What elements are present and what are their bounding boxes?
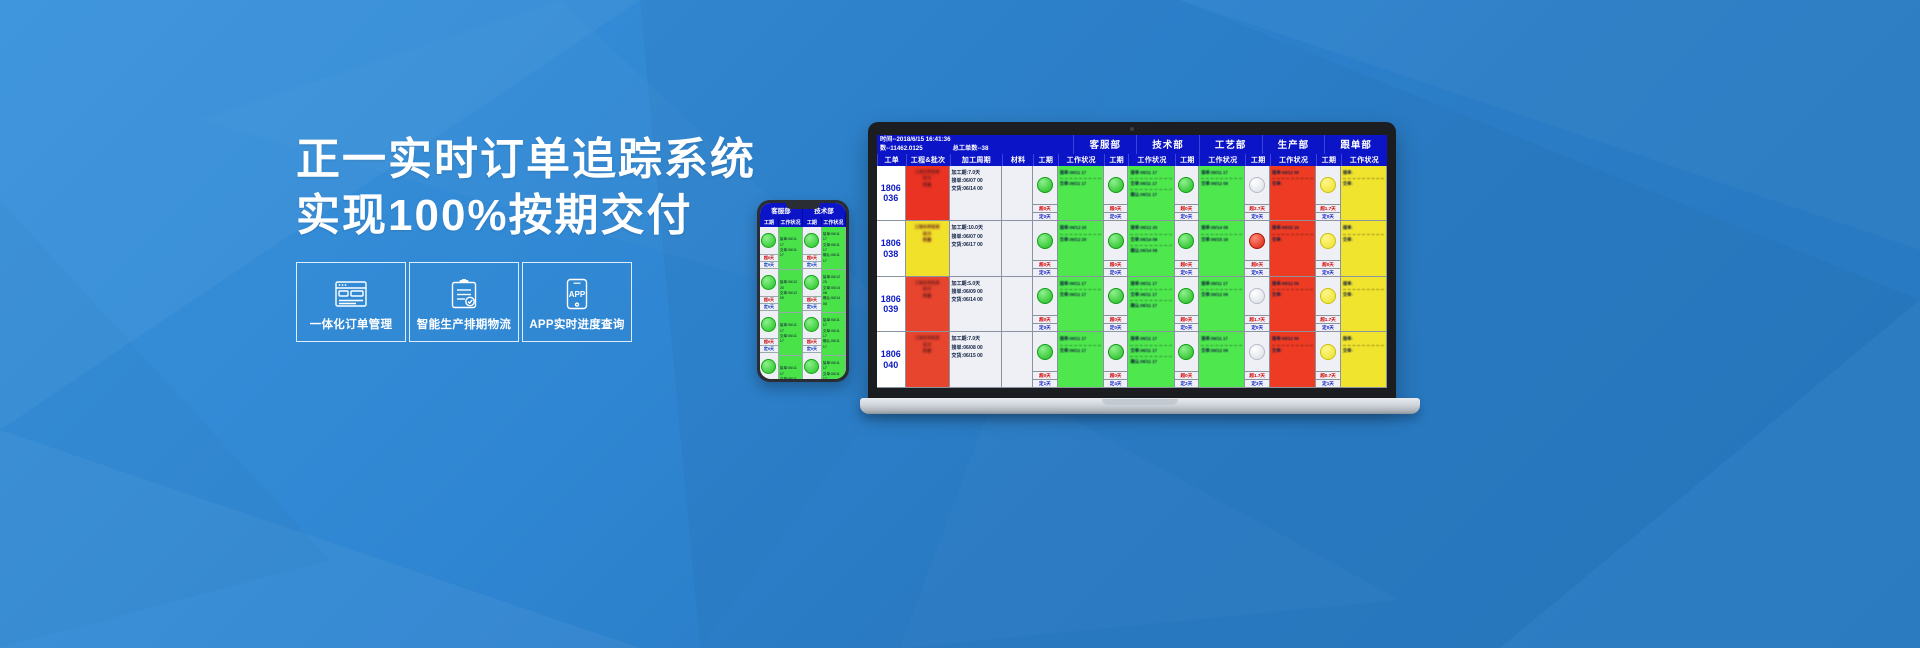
meta-time: 时间--2018/6/15 16:41:36 xyxy=(880,136,1071,145)
status-line: 交单: xyxy=(1343,236,1384,245)
status-line: 接单:06/11 17 xyxy=(1201,169,1242,179)
phone-status-line: 接单:06/11 17 xyxy=(780,323,801,334)
cell-技术部-duration[interactable]: 超0天定0天 xyxy=(1104,221,1128,277)
phone-status-text: 接单:06/11 17交单:06/11 17 xyxy=(779,364,802,379)
feature-label: 一体化订单管理 xyxy=(310,316,393,332)
status-line: 接单: xyxy=(1343,224,1384,234)
status-light-green xyxy=(804,359,819,374)
cycle-line: 交货:06/14 00 xyxy=(952,185,1000,193)
status-light-green xyxy=(804,317,819,332)
status-line: 交单:06/15 16 xyxy=(1201,236,1242,245)
work-order-prefix: 1806 xyxy=(881,238,901,248)
phone-col-status-cs: 工作状况 xyxy=(779,217,803,227)
cycle-line: 加工期:7.0天 xyxy=(952,169,1000,177)
cell-客服部-duration[interactable]: 超0天定0天 xyxy=(1033,221,1057,277)
status-line: 交单: xyxy=(1272,347,1313,356)
cell-生产部-duration[interactable]: 超0天定0天 xyxy=(1245,221,1269,277)
status-line: 交单:06/12 09 xyxy=(1201,291,1242,300)
cell-客服部-status[interactable]: 接单:06/12 20交单:06/12 20 xyxy=(1058,221,1103,277)
status-light-yellow xyxy=(1320,288,1336,304)
status-light-green xyxy=(761,275,776,290)
status-line: 交单: xyxy=(1343,291,1384,300)
cell-客服部-duration[interactable]: 超0天定0天 xyxy=(1033,166,1057,222)
status-light-green xyxy=(1178,344,1194,360)
status-light-green xyxy=(1037,233,1053,249)
cycle-line: 接单:06/09 00 xyxy=(952,288,1000,296)
laptop-device-mockup: 时间--2018/6/15 16:41:36 数--11462.0125总工单数… xyxy=(860,122,1420,422)
cell-客服部-status[interactable]: 接单:06/11 17交单:06/11 17 xyxy=(1058,166,1103,222)
cell-project-batch[interactable]: 工程名称信息批次数量 xyxy=(906,332,949,388)
phone-col-duration-cs: 工期 xyxy=(760,217,779,227)
phone-notch xyxy=(786,203,820,209)
overdue-badge: 超0天 xyxy=(1033,315,1057,323)
cell-工艺部-duration[interactable]: 超0天定0天 xyxy=(1175,277,1199,333)
status-line: 接单: xyxy=(1343,335,1384,345)
status-line: 接单:06/12 09 xyxy=(1272,280,1313,290)
column-work-order: 1806036180603818060391806040 xyxy=(877,166,906,388)
promo-banner: 正一实时订单追踪系统 实现100%按期交付 一体化订单管理 xyxy=(0,0,1920,648)
status-line: 接单:06/12 09 xyxy=(1272,169,1313,179)
status-indicator-wrap xyxy=(1104,277,1128,316)
feature-item-order-management[interactable]: 一体化订单管理 xyxy=(296,262,406,342)
status-light-green xyxy=(1037,288,1053,304)
phone-cell-cs-status[interactable]: 接单:06/12 20交单:06/12 20 xyxy=(779,270,802,313)
cycle-line: 交货:06/17 00 xyxy=(952,241,1000,249)
feature-label: 智能生产排期物流 xyxy=(417,316,511,332)
cell-processing-cycle[interactable]: 加工期:7.0天接单:06/07 00交货:06/14 00 xyxy=(950,166,1002,222)
scheduled-badge: 定4天 xyxy=(1104,379,1128,387)
cell-生产部-status[interactable]: 接单:06/12 09交单: xyxy=(1270,332,1315,388)
scheduled-badge: 定0天 xyxy=(1104,212,1128,220)
column-生产部-duration: 超2.7天定0天超0天定0天超1.7天定0天超1.7天定3天 xyxy=(1245,166,1270,388)
dashboard-column-headers: 工单工程&批次加工周期材料工期工作状况工期工作状况工期工作状况工期工作状况工期工… xyxy=(877,154,1387,166)
overdue-badge: 超0天 xyxy=(1316,260,1340,268)
feature-item-app-progress[interactable]: APP APP实时进度查询 xyxy=(522,262,632,342)
phone-cell-cs-status[interactable]: 接单:06/11 17交单:06/11 17 xyxy=(779,227,802,270)
phone-cell-tech-duration[interactable] xyxy=(803,353,821,379)
dashboard-grid[interactable]: 1806036180603818060391806040工程名称信息批次数量工程… xyxy=(877,166,1387,388)
phone-subheader: 工期 工作状况 工期 工作状况 xyxy=(760,217,846,227)
cell-工艺部-status[interactable]: 接单:06/11 17交单:06/12 09 xyxy=(1199,166,1244,222)
project-text: 数量 xyxy=(908,348,947,354)
overdue-badge: 超0天 xyxy=(1033,204,1057,212)
project-text: 数量 xyxy=(908,182,947,188)
cell-工艺部-status[interactable]: 接单:06/14 08交单:06/15 16 xyxy=(1199,221,1244,277)
work-order-prefix: 1806 xyxy=(881,349,901,359)
cell-material[interactable] xyxy=(1002,277,1032,333)
overdue-badge: 超1.7天 xyxy=(1245,315,1269,323)
cell-跟单部-duration[interactable]: 超1.7天定0天 xyxy=(1316,277,1340,333)
status-light-yellow xyxy=(1320,233,1336,249)
scheduled-badge: 定0天 xyxy=(1104,268,1128,276)
phone-status-line: 交单:06/14 08 xyxy=(823,286,844,297)
cycle-line: 加工期:5.0天 xyxy=(952,280,1000,288)
phone-col-status-tech: 工作状况 xyxy=(822,217,846,227)
phone-scheduled-badge: 定0天 xyxy=(760,346,778,353)
overdue-badge: 超0天 xyxy=(1245,260,1269,268)
scheduled-badge: 定0天 xyxy=(1033,212,1057,220)
project-text: 数量 xyxy=(908,237,947,243)
col-header-0: 工单 xyxy=(877,154,906,166)
overdue-badge: 超0天 xyxy=(1175,315,1199,323)
scheduled-badge: 定0天 xyxy=(1316,212,1340,220)
phone-cell-cs-duration[interactable] xyxy=(760,311,778,339)
status-line: 接单:06/12 09 xyxy=(1272,335,1313,345)
phone-cell-tech-duration[interactable] xyxy=(803,311,821,339)
status-line: 交单:06/11 17 xyxy=(1130,291,1171,301)
cell-跟单部-duration[interactable]: 超0天定0天 xyxy=(1316,221,1340,277)
overdue-badge: 超0.7天 xyxy=(1316,371,1340,379)
phone-column-cs-duration: 超0天定0天超0天定0天超0天定0天超0天定0天超0天定0天 xyxy=(760,227,779,379)
dashboard-window-icon xyxy=(335,277,367,311)
cell-技术部-duration[interactable]: 超0天定0天 xyxy=(1104,277,1128,333)
status-indicator-wrap xyxy=(1175,166,1199,205)
webcam-icon xyxy=(1130,127,1134,131)
status-light-green xyxy=(1108,288,1124,304)
cell-work-order[interactable]: 1806040 xyxy=(877,332,905,388)
dashboard-meta: 时间--2018/6/15 16:41:36 数--11462.0125总工单数… xyxy=(877,135,1073,154)
phone-overdue-badge: 超0天 xyxy=(760,297,778,304)
cell-material[interactable] xyxy=(1002,221,1032,277)
phone-cell-tech-status[interactable]: 接单:06/11 17交单:06/11 17确认:06/11 17 xyxy=(822,227,845,270)
col-header-工艺部-工期: 工期 xyxy=(1175,154,1200,166)
cell-技术部-duration[interactable]: 超0天定4天 xyxy=(1104,332,1128,388)
status-line: 接单:06/11 17 xyxy=(1130,169,1171,179)
status-indicator-wrap xyxy=(1104,332,1128,371)
column-客服部-duration: 超0天定0天超0天定0天超0天定0天超0天定1天 xyxy=(1033,166,1058,388)
col-header-生产部-工作状况: 工作状况 xyxy=(1270,154,1316,166)
cycle-line: 接单:06/07 00 xyxy=(952,233,1000,241)
status-line: 接单:06/11 17 xyxy=(1060,280,1101,290)
col-header-2: 加工周期 xyxy=(950,154,1003,166)
feature-item-smart-scheduling[interactable]: 智能生产排期物流 xyxy=(409,262,519,342)
phone-status-text: 接单:06/12 20交单:06/12 20 xyxy=(779,278,802,304)
status-line: 接单:06/12 20 xyxy=(1060,224,1101,234)
phone-cell-cs-duration[interactable] xyxy=(760,353,778,379)
scheduled-badge: 定2天 xyxy=(1175,379,1199,387)
status-line: 交单:06/12 09 xyxy=(1201,180,1242,189)
status-light-green xyxy=(804,233,819,248)
col-header-技术部-工期: 工期 xyxy=(1104,154,1129,166)
work-order-prefix: 1806 xyxy=(881,183,901,193)
status-indicator-wrap xyxy=(1175,221,1199,260)
phone-status-line: 确认:06/11 17 xyxy=(823,339,844,350)
cell-生产部-duration[interactable]: 超1.7天定3天 xyxy=(1245,332,1269,388)
status-line: 接单:06/11 17 xyxy=(1060,169,1101,179)
cycle-line: 交货:06/14 00 xyxy=(952,296,1000,304)
meta-count: 数--11462.0125 xyxy=(880,145,923,152)
phone-status-line: 接单:06/11 17 xyxy=(823,361,844,372)
scheduled-badge: 定0天 xyxy=(1175,268,1199,276)
cell-技术部-status[interactable]: 接单:06/12 20交单:06/14 08确认:06/14 08 xyxy=(1128,221,1173,277)
status-light-green xyxy=(804,275,819,290)
cell-技术部-status[interactable]: 接单:06/11 17交单:06/11 17确认:06/11 17 xyxy=(1128,166,1173,222)
cell-生产部-duration[interactable]: 超1.7天定0天 xyxy=(1245,277,1269,333)
status-light-green xyxy=(761,317,776,332)
scheduled-badge: 定0天 xyxy=(1316,323,1340,331)
phone-table-body[interactable]: 超0天定0天超0天定0天超0天定0天超0天定0天超0天定0天 接单:06/11 … xyxy=(760,227,846,379)
status-line: 接单: xyxy=(1343,280,1384,290)
dept-header-followup: 跟单部 xyxy=(1324,135,1387,154)
phone-status-line: 交单:06/12 20 xyxy=(780,291,801,302)
status-indicator-wrap xyxy=(1245,221,1269,260)
status-light-green xyxy=(1037,177,1053,193)
phone-status-line: 接单:06/11 17 xyxy=(823,318,844,329)
column-material xyxy=(1002,166,1033,388)
phone-status-text: 接单:06/11 17交单:06/11 17确认:06/11 17 xyxy=(822,316,845,352)
cell-跟单部-status[interactable]: 接单:交单: xyxy=(1341,166,1386,222)
scheduled-badge: 定0天 xyxy=(1104,323,1128,331)
status-indicator-wrap xyxy=(1175,277,1199,316)
overdue-badge: 超0天 xyxy=(1104,260,1128,268)
dept-header-production: 生产部 xyxy=(1262,135,1325,154)
phone-status-line: 交单:06/11 17 xyxy=(780,334,801,345)
status-line: 交单: xyxy=(1343,180,1384,189)
feature-list: 一体化订单管理 智能生产排期物流 xyxy=(296,262,632,342)
phone-column-cs-status: 接单:06/11 17交单:06/11 17接单:06/12 20交单:06/1… xyxy=(779,227,803,379)
column-跟单部-status: 接单:交单:接单:交单:接单:交单:接单:交单: xyxy=(1341,166,1387,388)
work-order-suffix: 040 xyxy=(883,360,898,370)
cycle-line: 加工期:10.0天 xyxy=(952,224,1000,232)
phone-cell-tech-status[interactable]: 接单:06/12 20交单:06/14 08确认:06/14 08 xyxy=(822,270,845,313)
status-line: 交单:06/11 17 xyxy=(1060,291,1101,300)
cycle-line: 接单:06/07 00 xyxy=(952,177,1000,185)
laptop-lid: 时间--2018/6/15 16:41:36 数--11462.0125总工单数… xyxy=(868,122,1396,404)
status-line: 交单: xyxy=(1343,347,1384,356)
col-header-客服部-工作状况: 工作状况 xyxy=(1058,154,1104,166)
status-light-white xyxy=(1249,344,1265,360)
overdue-badge: 超0天 xyxy=(1033,371,1057,379)
status-line: 交单:06/11 17 xyxy=(1060,347,1101,356)
cell-跟单部-duration[interactable]: 超0.7天定1天 xyxy=(1316,332,1340,388)
phone-cell-tech-status[interactable]: 接单:06/11 17交单:06/11 17确认:06/11 17 xyxy=(822,356,845,379)
clipboard-schedule-icon xyxy=(451,277,477,311)
status-line: 接单:06/12 20 xyxy=(1130,224,1171,234)
phone-status-line: 交单:06/11 17 xyxy=(823,372,844,379)
cell-material[interactable] xyxy=(1002,166,1032,222)
phone-scheduled-badge: 定0天 xyxy=(760,304,778,311)
cell-processing-cycle[interactable]: 加工期:5.0天接单:06/09 00交货:06/14 00 xyxy=(950,277,1002,333)
status-indicator-wrap xyxy=(1245,332,1269,371)
overdue-badge: 超0天 xyxy=(1104,315,1128,323)
cell-技术部-duration[interactable]: 超0天定0天 xyxy=(1104,166,1128,222)
cell-客服部-duration[interactable]: 超0天定0天 xyxy=(1033,277,1057,333)
col-header-1: 工程&批次 xyxy=(906,154,950,166)
phone-status-line: 接单:06/11 17 xyxy=(780,237,801,248)
cell-project-batch[interactable]: 工程名称信息批次数量 xyxy=(906,221,949,277)
status-line: 交单:06/11 17 xyxy=(1130,347,1171,357)
cell-工艺部-duration[interactable]: 超0天定2天 xyxy=(1175,332,1199,388)
phone-column-tech-status: 接单:06/11 17交单:06/11 17确认:06/11 17接单:06/1… xyxy=(822,227,846,379)
overdue-badge: 超0天 xyxy=(1175,371,1199,379)
phone-scheduled-badge: 定0天 xyxy=(760,262,778,269)
phone-status-line: 接单:06/12 20 xyxy=(780,280,801,291)
dashboard-header: 时间--2018/6/15 16:41:36 数--11462.0125总工单数… xyxy=(877,135,1387,154)
status-indicator-wrap xyxy=(1245,166,1269,205)
scheduled-badge: 定0天 xyxy=(1033,323,1057,331)
cell-客服部-duration[interactable]: 超0天定1天 xyxy=(1033,332,1057,388)
mobile-app-icon: APP xyxy=(566,277,588,311)
cell-processing-cycle[interactable]: 加工期:10.0天接单:06/07 00交货:06/17 00 xyxy=(950,221,1002,277)
work-order-suffix: 039 xyxy=(883,304,898,314)
column-生产部-status: 接单:06/12 09交单:接单:06/15 16交单:接单:06/12 09交… xyxy=(1270,166,1316,388)
feature-label: APP实时进度查询 xyxy=(529,316,624,332)
scheduled-badge: 定1天 xyxy=(1316,379,1340,387)
status-line: 接单:06/11 17 xyxy=(1201,335,1242,345)
status-line: 接单:06/15 16 xyxy=(1272,224,1313,234)
cell-project-batch[interactable]: 工程名称信息批次数量 xyxy=(906,277,949,333)
work-order-prefix: 1806 xyxy=(881,294,901,304)
cell-project-batch[interactable]: 工程名称信息批次数量 xyxy=(906,166,949,222)
cell-work-order[interactable]: 1806039 xyxy=(877,277,905,333)
cell-processing-cycle[interactable]: 加工期:7.0天接单:06/08 00交货:06/15 00 xyxy=(950,332,1002,388)
headline-line-1: 正一实时订单追踪系统 xyxy=(296,135,756,184)
cell-跟单部-duration[interactable]: 超1.7天定0天 xyxy=(1316,166,1340,222)
meta-total: 总工单数--38 xyxy=(953,145,989,152)
status-indicator-wrap xyxy=(1316,166,1340,205)
cell-工艺部-status[interactable]: 接单:06/11 17交单:06/12 09 xyxy=(1199,277,1244,333)
dept-header-customer-service: 客服部 xyxy=(1073,135,1136,154)
phone-status-text: 接单:06/11 17交单:06/11 17确认:06/11 17 xyxy=(822,359,845,379)
phone-status-line: 确认:06/14 08 xyxy=(823,296,844,307)
status-light-white xyxy=(1249,288,1265,304)
overdue-badge: 超1.7天 xyxy=(1316,204,1340,212)
svg-text:APP: APP xyxy=(569,290,586,299)
cell-生产部-status[interactable]: 接单:06/12 09交单: xyxy=(1270,277,1315,333)
phone-col-duration-tech: 工期 xyxy=(803,217,822,227)
phone-status-line: 交单:06/11 17 xyxy=(780,377,801,379)
phone-status-text: 接单:06/11 17交单:06/11 17 xyxy=(779,321,802,347)
project-text: 数量 xyxy=(908,293,947,299)
cycle-line: 交货:06/15 00 xyxy=(952,352,1000,360)
meta-count-row: 数--11462.0125总工单数--38 xyxy=(880,145,1071,154)
col-header-3: 材料 xyxy=(1002,154,1033,166)
phone-scheduled-badge: 定0天 xyxy=(803,346,821,353)
cell-工艺部-duration[interactable]: 超0天定0天 xyxy=(1175,221,1199,277)
phone-cell-tech-duration[interactable] xyxy=(803,227,821,255)
work-order-suffix: 038 xyxy=(883,249,898,259)
cell-客服部-status[interactable]: 接单:06/11 17交单:06/11 17 xyxy=(1058,332,1103,388)
status-line: 交单:06/11 17 xyxy=(1060,180,1101,189)
cell-生产部-status[interactable]: 接单:06/15 16交单: xyxy=(1270,221,1315,277)
col-header-客服部-工期: 工期 xyxy=(1033,154,1058,166)
status-indicator-wrap xyxy=(1104,221,1128,260)
phone-scheduled-badge: 定0天 xyxy=(803,262,821,269)
status-line: 接单: xyxy=(1343,169,1384,179)
status-light-green xyxy=(1178,288,1194,304)
dept-header-technical: 技术部 xyxy=(1136,135,1199,154)
status-indicator-wrap xyxy=(1245,277,1269,316)
phone-status-line: 交单:06/11 17 xyxy=(823,329,844,340)
col-header-工艺部-工作状况: 工作状况 xyxy=(1199,154,1245,166)
status-light-red xyxy=(1249,233,1265,249)
laptop-front-notch xyxy=(1102,399,1178,405)
status-light-green xyxy=(761,359,776,374)
cell-跟单部-status[interactable]: 接单:交单: xyxy=(1341,332,1386,388)
status-line: 接单:06/11 17 xyxy=(1130,280,1171,290)
status-line: 交单:06/12 09 xyxy=(1201,347,1242,356)
column-技术部-duration: 超0天定0天超0天定0天超0天定0天超0天定4天 xyxy=(1104,166,1129,388)
phone-cell-cs-status[interactable]: 接单:06/11 17交单:06/11 17 xyxy=(779,356,802,379)
phone-cell-tech-status[interactable]: 接单:06/11 17交单:06/11 17确认:06/11 17 xyxy=(822,313,845,356)
status-indicator-wrap xyxy=(1033,277,1057,316)
phone-cell-cs-duration[interactable] xyxy=(760,227,778,255)
status-indicator-wrap xyxy=(1316,221,1340,260)
column-技术部-status: 接单:06/11 17交单:06/11 17确认:06/11 17接单:06/1… xyxy=(1128,166,1174,388)
scheduled-badge: 定0天 xyxy=(1175,323,1199,331)
status-line: 确认:06/11 17 xyxy=(1130,358,1171,367)
overdue-badge: 超0天 xyxy=(1104,371,1128,379)
status-light-green xyxy=(761,233,776,248)
overdue-badge: 超2.7天 xyxy=(1245,204,1269,212)
cell-技术部-status[interactable]: 接单:06/11 17交单:06/11 17确认:06/11 17 xyxy=(1128,332,1173,388)
status-indicator-wrap xyxy=(1316,277,1340,316)
cell-生产部-duration[interactable]: 超2.7天定0天 xyxy=(1245,166,1269,222)
cell-工艺部-duration[interactable]: 超0天定0天 xyxy=(1175,166,1199,222)
overdue-badge: 超0天 xyxy=(1175,260,1199,268)
phone-overdue-badge: 超0天 xyxy=(803,255,821,262)
phone-screen: 客服部 技术部 工期 工作状况 工期 工作状况 超0天定0天超0天定0天超0天定… xyxy=(760,203,846,379)
cell-work-order[interactable]: 1806038 xyxy=(877,221,905,277)
phone-status-text: 接单:06/11 17交单:06/11 17确认:06/11 17 xyxy=(822,230,845,266)
cycle-line: 接单:06/08 00 xyxy=(952,344,1000,352)
status-indicator-wrap xyxy=(1033,332,1057,371)
status-line: 交单:06/14 08 xyxy=(1130,236,1171,246)
cell-work-order[interactable]: 1806036 xyxy=(877,166,905,222)
col-header-技术部-工作状况: 工作状况 xyxy=(1128,154,1174,166)
status-line: 确认:06/11 17 xyxy=(1130,191,1171,200)
cell-工艺部-status[interactable]: 接单:06/11 17交单:06/12 09 xyxy=(1199,332,1244,388)
status-light-yellow xyxy=(1320,344,1336,360)
status-light-green xyxy=(1108,344,1124,360)
phone-cell-tech-duration[interactable] xyxy=(803,269,821,297)
phone-cell-cs-duration[interactable] xyxy=(760,269,778,297)
cell-生产部-status[interactable]: 接单:06/12 09交单: xyxy=(1270,166,1315,222)
scheduled-badge: 定3天 xyxy=(1245,379,1269,387)
cell-技术部-status[interactable]: 接单:06/11 17交单:06/11 17确认:06/11 17 xyxy=(1128,277,1173,333)
status-light-green xyxy=(1178,177,1194,193)
status-light-green xyxy=(1108,233,1124,249)
scheduled-badge: 定0天 xyxy=(1245,212,1269,220)
column-跟单部-duration: 超1.7天定0天超0天定0天超1.7天定0天超0.7天定1天 xyxy=(1316,166,1341,388)
column-客服部-status: 接单:06/11 17交单:06/11 17接单:06/12 20交单:06/1… xyxy=(1058,166,1104,388)
column-project-batch: 工程名称信息批次数量工程名称信息批次数量工程名称信息批次数量工程名称信息批次数量 xyxy=(906,166,950,388)
phone-status-line: 交单:06/11 17 xyxy=(780,248,801,259)
mobile-device-mockup: 客服部 技术部 工期 工作状况 工期 工作状况 超0天定0天超0天定0天超0天定… xyxy=(757,200,849,382)
status-line: 交单:06/11 17 xyxy=(1130,180,1171,190)
status-indicator-wrap xyxy=(1033,221,1057,260)
status-indicator-wrap xyxy=(1175,332,1199,371)
status-line: 接单:06/11 17 xyxy=(1060,335,1101,345)
order-tracking-dashboard: 时间--2018/6/15 16:41:36 数--11462.0125总工单数… xyxy=(877,135,1387,388)
phone-cell-cs-status[interactable]: 接单:06/11 17交单:06/11 17 xyxy=(779,313,802,356)
phone-status-line: 接单:06/11 17 xyxy=(823,232,844,243)
cell-跟单部-status[interactable]: 接单:交单: xyxy=(1341,277,1386,333)
cell-跟单部-status[interactable]: 接单:交单: xyxy=(1341,221,1386,277)
phone-overdue-badge: 超0天 xyxy=(760,255,778,262)
laptop-screen: 时间--2018/6/15 16:41:36 数--11462.0125总工单数… xyxy=(877,135,1387,388)
phone-overdue-badge: 超0天 xyxy=(803,297,821,304)
status-line: 确认:06/14 08 xyxy=(1130,247,1171,256)
cell-material[interactable] xyxy=(1002,332,1032,388)
status-light-yellow xyxy=(1320,177,1336,193)
status-light-white xyxy=(1249,177,1265,193)
col-header-跟单部-工作状况: 工作状况 xyxy=(1341,154,1387,166)
overdue-badge: 超1.7天 xyxy=(1245,371,1269,379)
status-line: 确认:06/11 17 xyxy=(1130,302,1171,311)
status-indicator-wrap xyxy=(1104,166,1128,205)
cell-客服部-status[interactable]: 接单:06/11 17交单:06/11 17 xyxy=(1058,277,1103,333)
